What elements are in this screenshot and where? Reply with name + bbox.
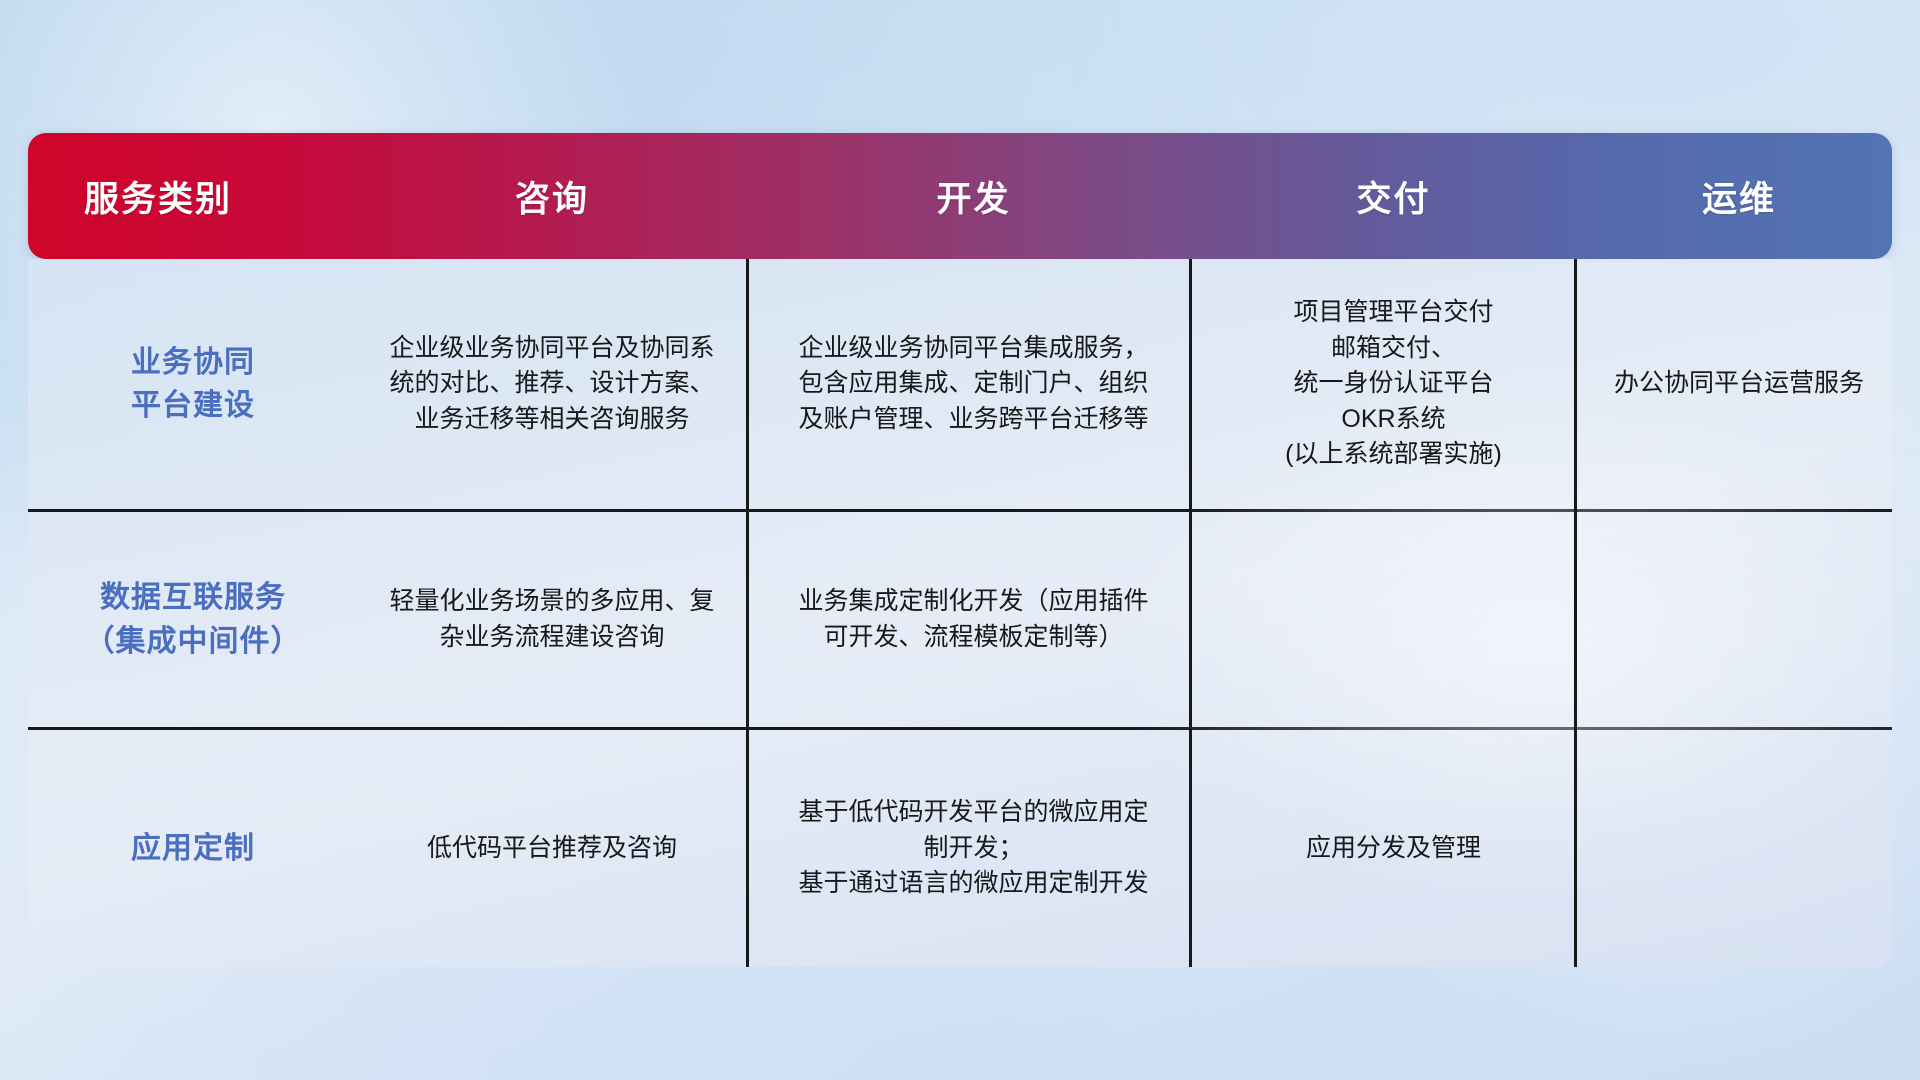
cell-text: 办公协同平台运营服务 [1614,366,1864,402]
table-row: 业务协同 平台建设 企业级业务协同平台及协同系 统的对比、推荐、设计方案、 业务… [28,259,1892,509]
cell-text: 轻量化业务场景的多应用、复 杂业务流程建设咨询 [389,584,714,655]
table-header-cell-operations: 运维 [1586,133,1892,259]
table-cell-consulting: 低代码平台推荐及咨询 [358,730,746,967]
table-body: 业务协同 平台建设 企业级业务协同平台及协同系 统的对比、推荐、设计方案、 业务… [28,259,1892,967]
header-label-category: 服务类别 [84,171,232,222]
cell-text: 低代码平台推荐及咨询 [427,831,677,867]
table-cell-development: 基于低代码开发平台的微应用定 制开发； 基于通过语言的微应用定制开发 [746,730,1201,967]
header-label-operations: 运维 [1702,171,1776,222]
table-cell-category: 数据互联服务 （集成中间件） [28,512,358,727]
header-label-consulting: 咨询 [515,171,589,222]
cell-text: 数据互联服务 （集成中间件） [85,576,302,663]
table-cell-operations [1586,512,1892,727]
table-cell-delivery [1201,512,1586,727]
cell-text: 业务集成定制化开发（应用插件 可开发、流程模板定制等） [798,584,1148,655]
table-row: 数据互联服务 （集成中间件） 轻量化业务场景的多应用、复 杂业务流程建设咨询 业… [28,509,1892,727]
cell-text: 业务协同 平台建设 [131,341,255,428]
table-cell-operations: 办公协同平台运营服务 [1586,259,1892,509]
table-cell-consulting: 轻量化业务场景的多应用、复 杂业务流程建设咨询 [358,512,746,727]
cell-text: 基于低代码开发平台的微应用定 制开发； 基于通过语言的微应用定制开发 [798,795,1148,902]
cell-text: 企业级业务协同平台集成服务， 包含应用集成、定制门户、组织 及账户管理、业务跨平… [798,331,1148,438]
table-header-cell-delivery: 交付 [1201,133,1586,259]
header-label-development: 开发 [936,171,1010,222]
cell-text: 应用分发及管理 [1306,831,1481,867]
table-header-cell-development: 开发 [746,133,1201,259]
table-cell-development: 企业级业务协同平台集成服务， 包含应用集成、定制门户、组织 及账户管理、业务跨平… [746,259,1201,509]
table-cell-category: 应用定制 [28,730,358,967]
table-header-cell-category: 服务类别 [28,133,358,259]
table-cell-consulting: 企业级业务协同平台及协同系 统的对比、推荐、设计方案、 业务迁移等相关咨询服务 [358,259,746,509]
cell-text: 项目管理平台交付 邮箱交付、 统一身份认证平台 OKR系统 (以上系统部署实施) [1285,295,1502,473]
table-cell-delivery: 应用分发及管理 [1201,730,1586,967]
table-cell-category: 业务协同 平台建设 [28,259,358,509]
table-cell-development: 业务集成定制化开发（应用插件 可开发、流程模板定制等） [746,512,1201,727]
slide-canvas: 服务类别 咨询 开发 交付 运维 业务协同 平台建设 [0,0,1920,1080]
header-label-delivery: 交付 [1356,171,1430,222]
service-matrix-table: 服务类别 咨询 开发 交付 运维 业务协同 平台建设 [28,133,1892,967]
table-header-row: 服务类别 咨询 开发 交付 运维 [28,133,1892,259]
table-cell-operations [1586,730,1892,967]
table-cell-delivery: 项目管理平台交付 邮箱交付、 统一身份认证平台 OKR系统 (以上系统部署实施) [1201,259,1586,509]
cell-text: 企业级业务协同平台及协同系 统的对比、推荐、设计方案、 业务迁移等相关咨询服务 [389,331,714,438]
table-row: 应用定制 低代码平台推荐及咨询 基于低代码开发平台的微应用定 制开发； 基于通过… [28,727,1892,967]
table-header-cell-consulting: 咨询 [358,133,746,259]
cell-text: 应用定制 [131,827,255,871]
